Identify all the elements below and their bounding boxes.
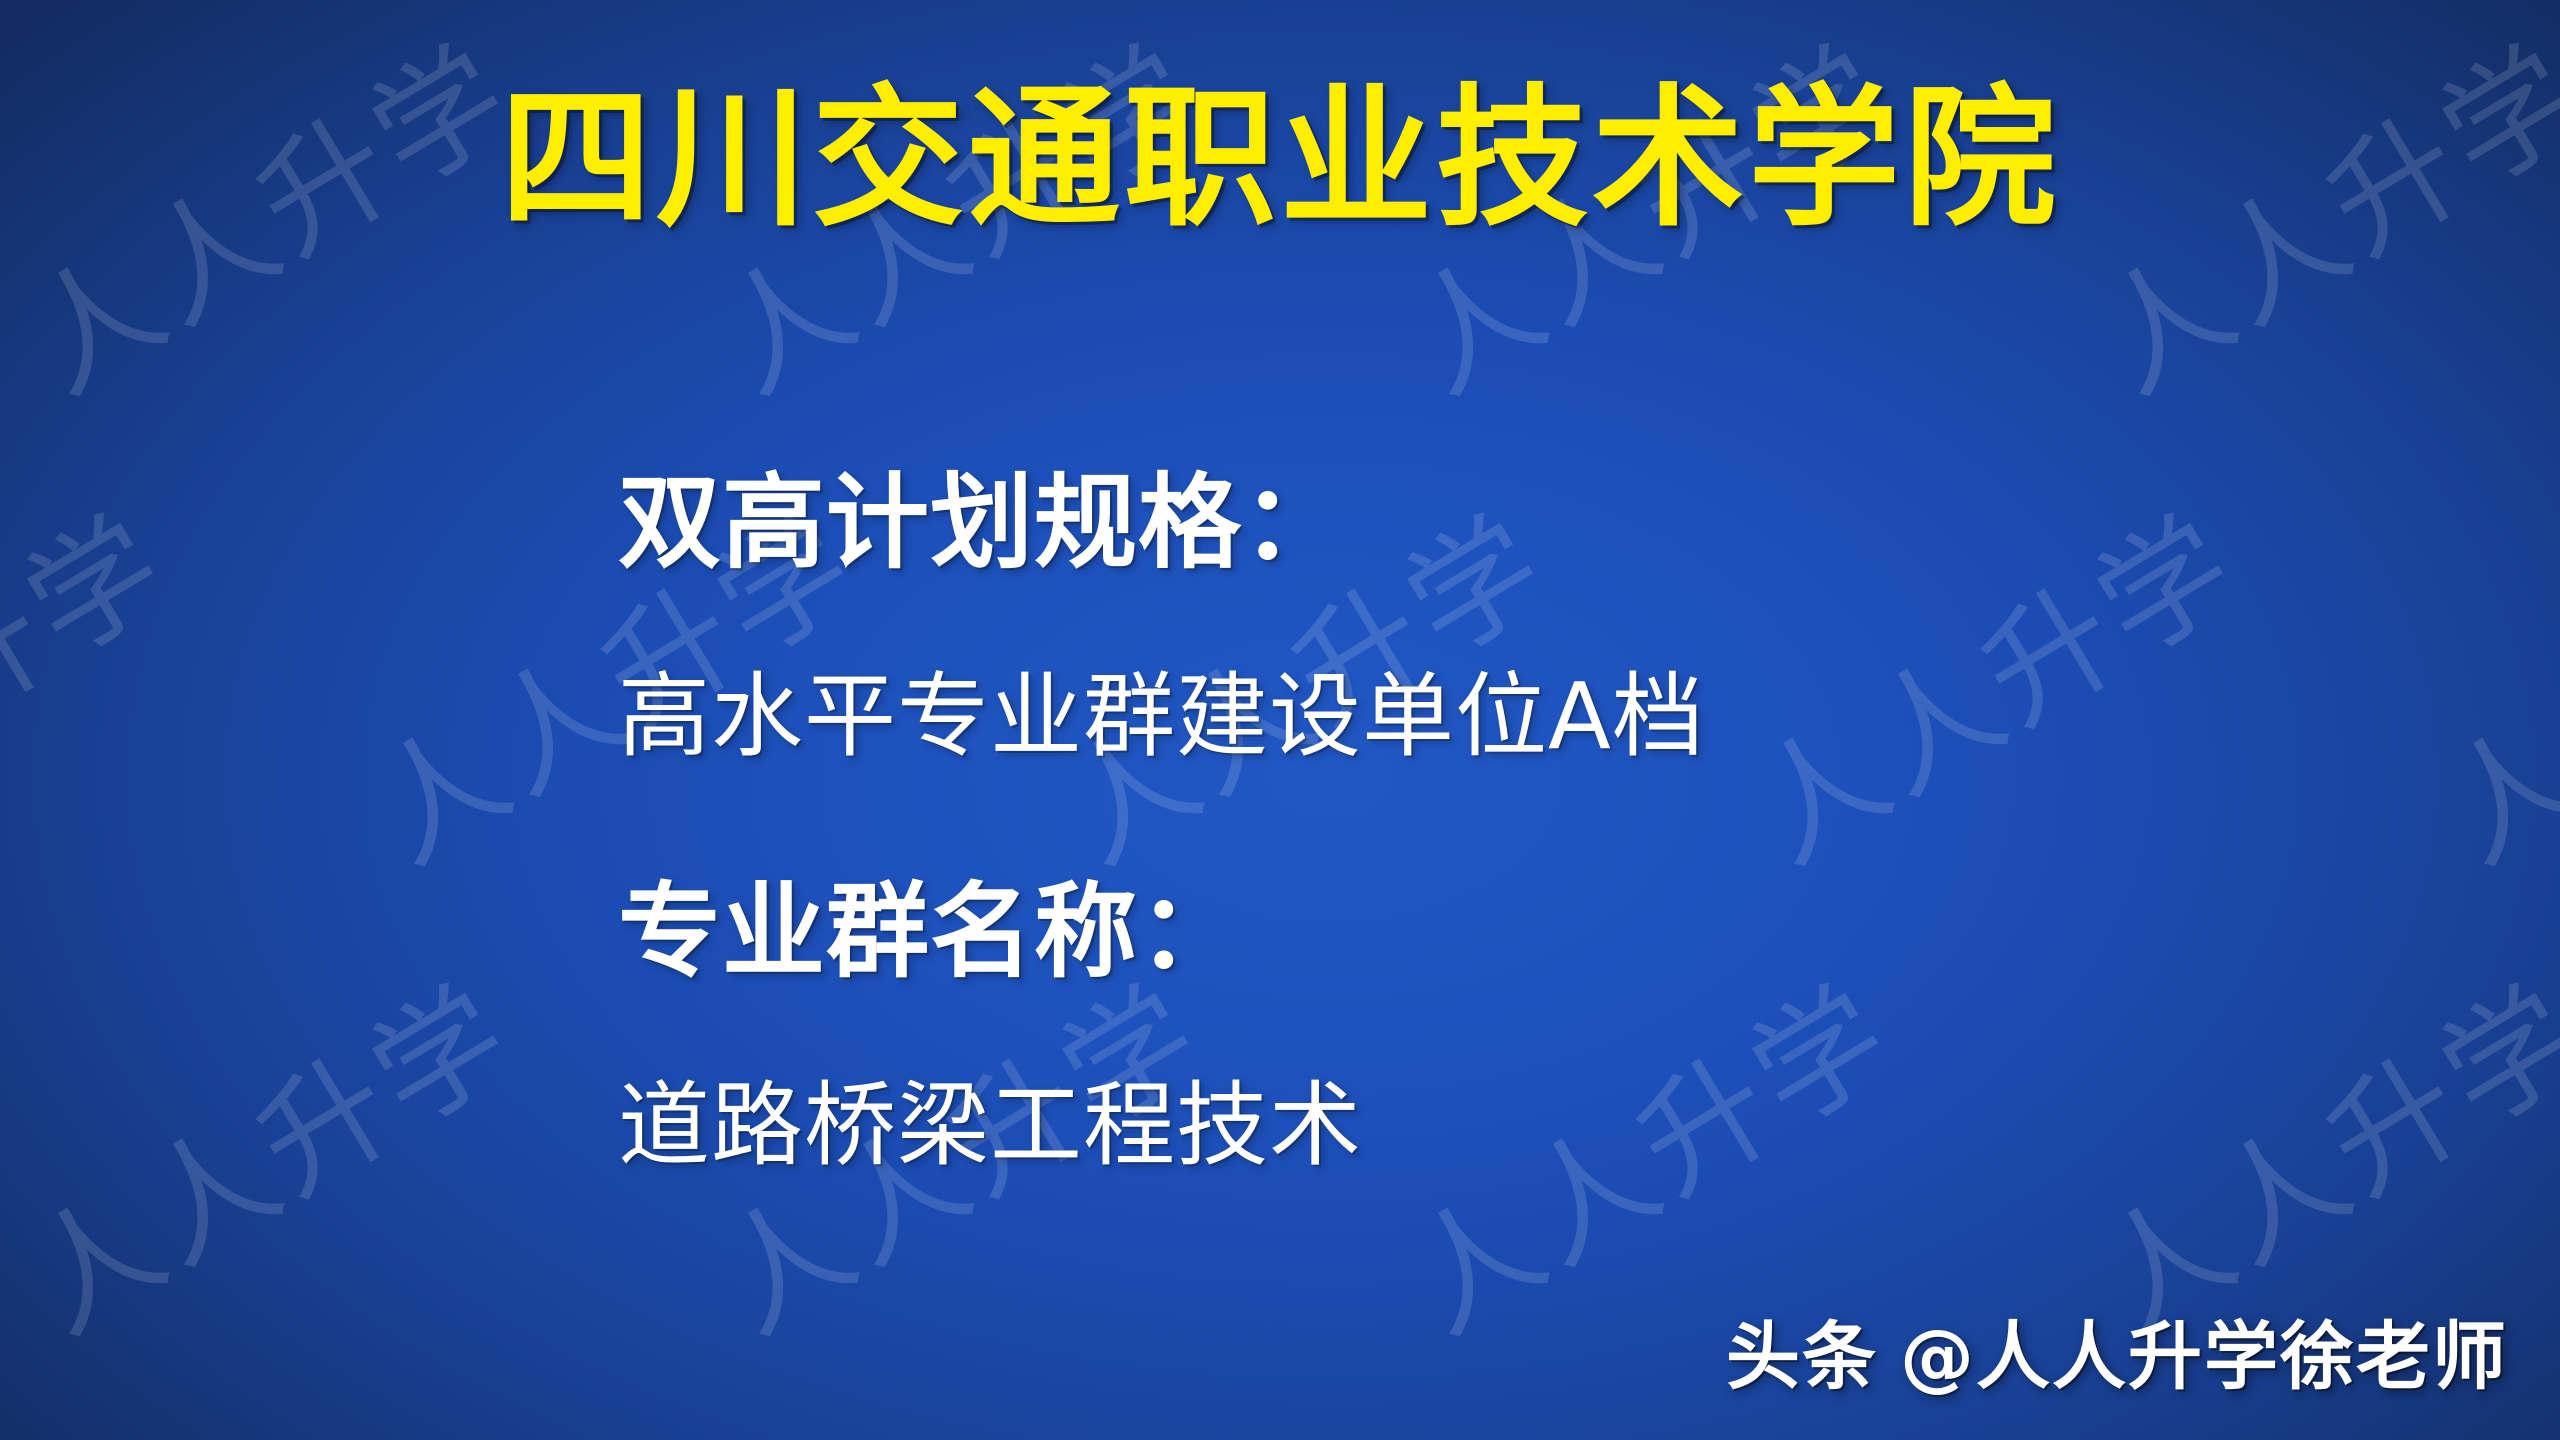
label-major-group-name: 专业群名称： [618, 881, 2418, 984]
value-major-group-name: 道路桥梁工程技术 [618, 1080, 2418, 1172]
value-program-tier: 高水平专业群建设单位A档 [618, 671, 2418, 763]
spacer [618, 984, 2418, 1080]
label-program-tier: 双高计划规格： [618, 472, 2418, 575]
presentation-slide: 人人升学人人升学人人升学人人升学人人升学人人升学人人升学人人升学人人升学人人升学… [0, 0, 2560, 1440]
attribution-brand: 头条 [1726, 1314, 1878, 1400]
spacer [618, 763, 2418, 881]
attribution-watermark: 头条@人人升学徐老师 [1726, 1297, 2508, 1404]
page-title: 四川交通职业技术学院 [0, 74, 2560, 244]
spacer [618, 575, 2418, 671]
attribution-handle: @人人升学徐老师 [1900, 1314, 2508, 1400]
slide-content: 四川交通职业技术学院 双高计划规格： 高水平专业群建设单位A档 专业群名称： 道… [0, 0, 2560, 1440]
info-block: 双高计划规格： 高水平专业群建设单位A档 专业群名称： 道路桥梁工程技术 [618, 472, 2418, 1172]
